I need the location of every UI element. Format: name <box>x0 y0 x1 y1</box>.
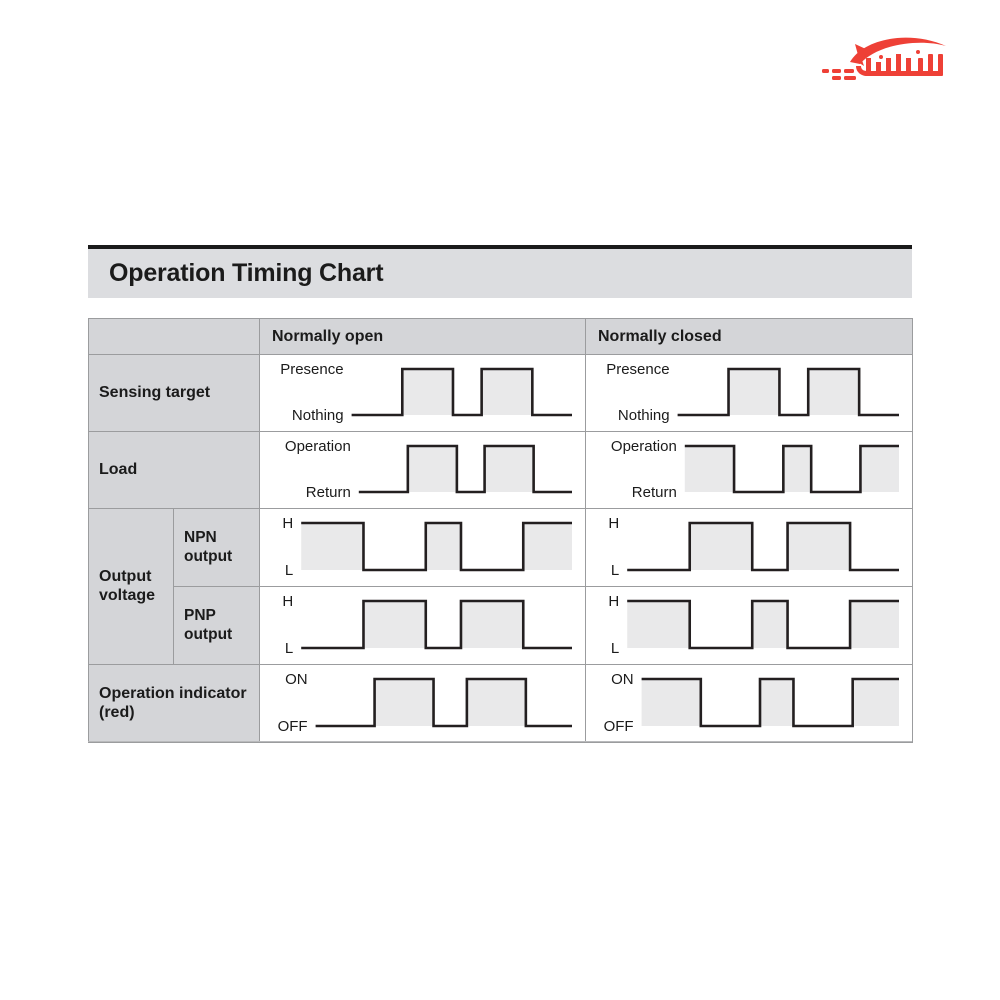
svg-text:H: H <box>608 593 619 610</box>
svg-text:ON: ON <box>611 671 634 688</box>
waveform-normally-open-row-1: Operation Return <box>260 432 586 509</box>
waveform-normally-closed-row-1: Operation Return <box>586 432 913 509</box>
svg-text:L: L <box>285 640 293 657</box>
table-header-row: Normally open Normally closed <box>89 319 913 355</box>
svg-text:H: H <box>608 515 619 532</box>
svg-text:L: L <box>285 562 293 579</box>
table-bottom-rule <box>88 741 912 742</box>
header-blank-cell <box>89 319 260 355</box>
waveform-normally-open-row-0: Presence Nothing <box>260 355 586 432</box>
svg-text:Operation: Operation <box>285 438 351 455</box>
waveform-normally-closed-row-0: Presence Nothing <box>586 355 913 432</box>
section-title-bar: Operation Timing Chart <box>88 245 912 298</box>
arta-electric-logo <box>806 28 972 94</box>
svg-text:Presence: Presence <box>606 361 669 378</box>
svg-text:Return: Return <box>632 484 677 501</box>
svg-text:Presence: Presence <box>280 361 343 378</box>
row-sublabel-pnp-output: PNP output <box>174 587 260 665</box>
svg-text:Nothing: Nothing <box>292 407 344 424</box>
operation-timing-table: Normally open Normally closed Sensing ta… <box>88 318 913 743</box>
table-row: Load Operation Return Operation Return <box>89 432 913 509</box>
waveform-normally-closed-row-2: H L <box>586 509 913 587</box>
row-label-output-voltage: Output voltage <box>89 509 174 665</box>
table-row: Operation indicator (red) ON OFF ON OFF <box>89 665 913 743</box>
svg-text:H: H <box>282 593 293 610</box>
waveform-normally-open-row-4: ON OFF <box>260 665 586 743</box>
table-row: Sensing target Presence Nothing Presence… <box>89 355 913 432</box>
row-label-sensing-target: Sensing target <box>89 355 260 432</box>
row-sublabel-npn-output: NPN output <box>174 509 260 587</box>
waveform-normally-open-row-2: H L <box>260 509 586 587</box>
svg-text:OFF: OFF <box>278 718 308 735</box>
svg-text:Nothing: Nothing <box>618 407 670 424</box>
svg-text:L: L <box>611 562 619 579</box>
header-normally-closed: Normally closed <box>586 319 913 355</box>
table-row: PNP output H L H L <box>89 587 913 665</box>
row-label-operation-indicator-red: Operation indicator (red) <box>89 665 260 743</box>
svg-text:Return: Return <box>306 484 351 501</box>
svg-text:ON: ON <box>285 671 308 688</box>
waveform-normally-closed-row-3: H L <box>586 587 913 665</box>
page-title: Operation Timing Chart <box>88 259 383 288</box>
svg-text:OFF: OFF <box>604 718 634 735</box>
row-label-load: Load <box>89 432 260 509</box>
svg-text:Operation: Operation <box>611 438 677 455</box>
waveform-normally-closed-row-4: ON OFF <box>586 665 913 743</box>
table-row: Output voltageNPN output H L H L <box>89 509 913 587</box>
svg-text:L: L <box>611 640 619 657</box>
waveform-normally-open-row-3: H L <box>260 587 586 665</box>
svg-text:H: H <box>282 515 293 532</box>
header-normally-open: Normally open <box>260 319 586 355</box>
